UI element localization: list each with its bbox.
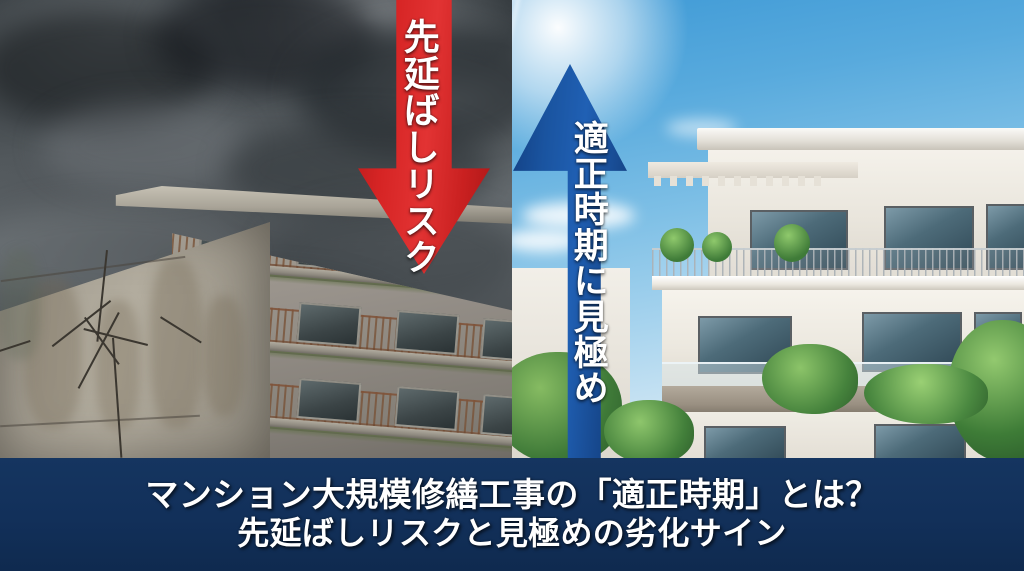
terrace-slab: [652, 276, 1024, 290]
greenery: [864, 364, 988, 424]
storm-cloud: [41, 101, 246, 193]
window: [394, 310, 459, 355]
greenery: [762, 344, 858, 414]
down-arrow-label: 先延ばしリスク: [400, 18, 437, 275]
modern-roof-slab: [697, 128, 1024, 150]
greenery: [604, 400, 694, 458]
water-stain: [150, 258, 202, 428]
up-arrow-label: 適正時期に見極め: [570, 120, 606, 406]
caption-bar: マンション大規模修繕工事の「適正時期」とは？ 先延ばしリスクと見極めの劣化サイン: [0, 458, 1024, 571]
window: [480, 318, 512, 363]
window: [874, 424, 966, 458]
planter-shrub: [702, 232, 732, 262]
planter-shrub: [660, 228, 694, 262]
sun-ray: [512, 0, 525, 220]
sun-ray: [512, 0, 525, 206]
window: [480, 394, 512, 439]
caption-line-2: 先延ばしリスクと見極めの劣化サイン: [237, 516, 786, 552]
window: [394, 386, 459, 431]
thumbnail-banner: 先延ばしリスク 適正時期に見極め マンション大規模修繕工事の「適正時期」とは？ …: [0, 0, 1024, 571]
window: [704, 426, 786, 458]
water-stain: [204, 296, 244, 416]
caption-line-1: マンション大規模修繕工事の「適正時期」とは？: [145, 477, 878, 514]
planter-shrub: [774, 224, 810, 262]
pergola-canopy: [648, 162, 858, 178]
window: [296, 378, 361, 423]
window: [296, 302, 361, 347]
